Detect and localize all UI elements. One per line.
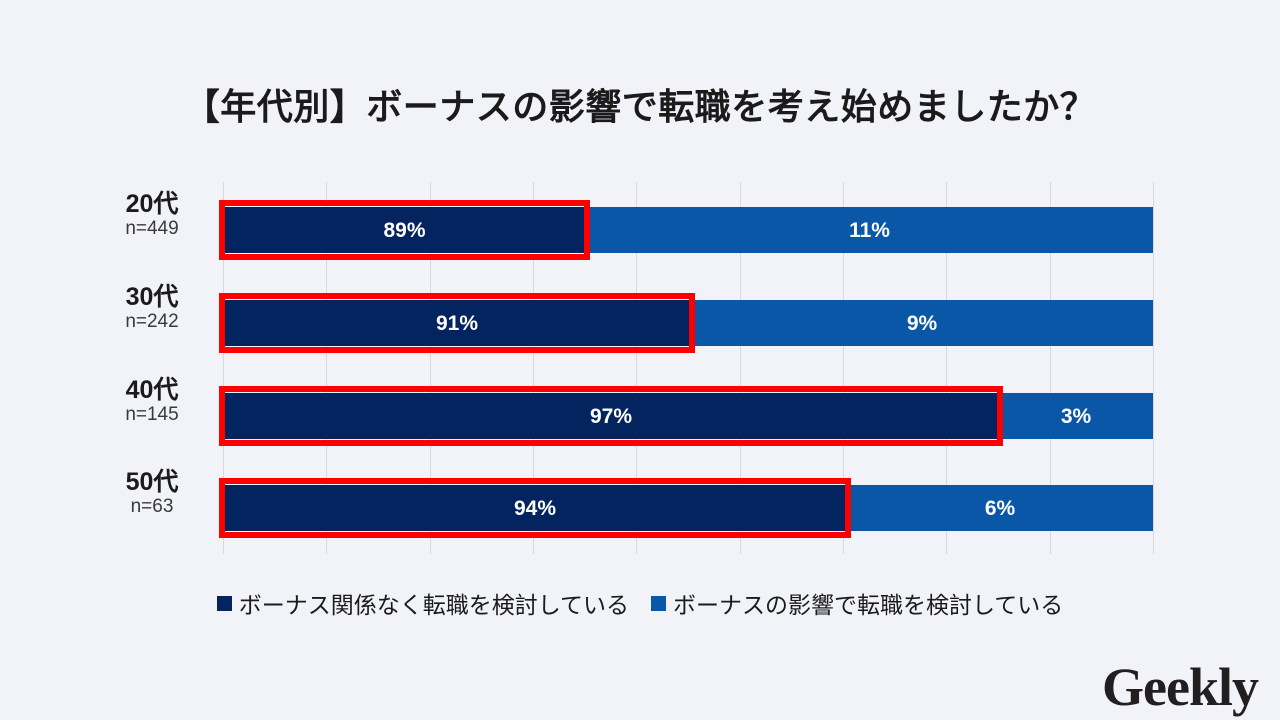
bar-row: 97%3% [223,393,1153,439]
bar-segment-secondary[interactable]: 9% [691,300,1153,346]
bar-value-label-primary: 94% [514,498,556,519]
bar-value-label-primary: 97% [590,406,632,427]
bar-segment-primary[interactable]: 94% [223,485,847,531]
bar-segment-primary[interactable]: 89% [223,207,586,253]
bar-value-label-primary: 91% [436,313,478,334]
bar-segment-secondary[interactable]: 6% [847,485,1153,531]
bar-value-label-secondary: 3% [1061,406,1091,427]
category-name: 20代 [96,191,208,217]
category-label-30代: 30代n=242 [96,284,208,333]
legend-label-primary: ボーナス関係なく転職を検討している [239,586,629,620]
chart-legend: ボーナス関係なく転職を検討している ボーナスの影響で転職を検討している [0,586,1280,620]
category-sample-size: n=242 [96,311,208,333]
chart-plot-area: 89%11%91%9%97%3%94%6% [223,182,1153,554]
category-sample-size: n=63 [96,496,208,518]
bar-segment-secondary[interactable]: 3% [999,393,1153,439]
slide-canvas: 【年代別】ボーナスの影響で転職を考え始めましたか？ 89%11%91%9%97%… [0,0,1280,720]
bar-value-label-secondary: 6% [985,498,1015,519]
legend-item-secondary[interactable]: ボーナスの影響で転職を検討している [651,586,1063,620]
bar-segment-primary[interactable]: 97% [223,393,999,439]
bar-segment-secondary[interactable]: 11% [586,207,1153,253]
category-label-50代: 50代n=63 [96,469,208,518]
bar-row: 91%9% [223,300,1153,346]
bar-row: 89%11% [223,207,1153,253]
legend-swatch-secondary-icon [651,596,666,611]
bar-value-label-primary: 89% [383,220,425,241]
category-label-20代: 20代n=449 [96,191,208,240]
gridline [1153,182,1154,554]
bar-value-label-secondary: 11% [849,220,890,241]
legend-label-secondary: ボーナスの影響で転職を検討している [673,586,1063,620]
category-name: 50代 [96,469,208,495]
chart-title: 【年代別】ボーナスの影響で転職を考え始めましたか？ [0,78,1280,130]
legend-item-primary[interactable]: ボーナス関係なく転職を検討している [217,586,629,620]
bar-segment-primary[interactable]: 91% [223,300,691,346]
category-name: 30代 [96,284,208,310]
bar-value-label-secondary: 9% [907,313,937,334]
category-label-40代: 40代n=145 [96,377,208,426]
category-name: 40代 [96,377,208,403]
geekly-logo: Geekly [1102,660,1258,714]
legend-swatch-primary-icon [217,596,232,611]
category-sample-size: n=449 [96,218,208,240]
category-sample-size: n=145 [96,404,208,426]
bar-row: 94%6% [223,485,1153,531]
